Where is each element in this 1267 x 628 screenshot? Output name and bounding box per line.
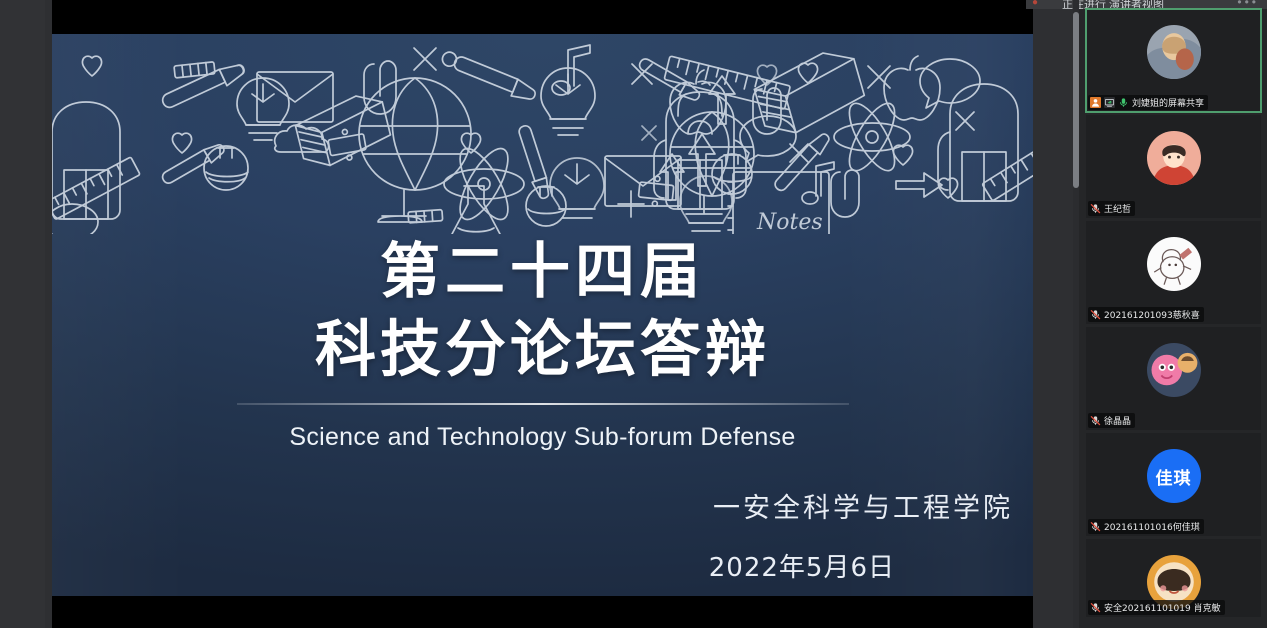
participant-tile[interactable]: 202161201093慈秋喜: [1086, 221, 1261, 324]
participant-namebar: 刘婕姐的屏幕共享: [1088, 95, 1208, 110]
participant-name: 徐晶晶: [1104, 414, 1131, 427]
mic-muted-icon: [1090, 203, 1101, 214]
slide-title-line1: 第二十四届: [52, 234, 1033, 311]
mic-muted-icon: [1090, 521, 1101, 532]
slide-date: 2022年5月6日: [709, 547, 895, 584]
record-icon: ●: [1032, 0, 1038, 8]
title-divider: [237, 403, 849, 405]
participant-tile[interactable]: 徐晶晶: [1086, 327, 1261, 430]
avatar: [1147, 131, 1201, 185]
participant-namebar: 202161101016何佳琪: [1088, 519, 1204, 534]
avatar: [1147, 237, 1201, 291]
participant-namebar: 王纪哲: [1088, 201, 1135, 216]
participants-scrollbar[interactable]: [1073, 12, 1079, 188]
host-icon: [1090, 97, 1101, 108]
participant-namebar: 安全202161101019 肖克敏: [1088, 600, 1225, 615]
participant-name: 刘婕姐的屏幕共享: [1132, 96, 1204, 109]
participant-name: 202161101016何佳琪: [1104, 520, 1200, 533]
svg-text:Notes: Notes: [756, 210, 823, 234]
participant-name: 202161201093慈秋喜: [1104, 308, 1200, 321]
screen-share-icon: [1104, 97, 1115, 108]
presentation-slide[interactable]: Notes: [52, 34, 1033, 596]
participant-name: 安全202161101019 肖克敏: [1104, 601, 1221, 614]
meeting-window: Notes: [0, 0, 1267, 628]
participant-tile[interactable]: 刘婕姐的屏幕共享: [1086, 9, 1261, 112]
avatar: [1147, 343, 1201, 397]
participant-name: 王纪哲: [1104, 202, 1131, 215]
panel-overflow-icon[interactable]: •••: [1237, 0, 1259, 9]
participant-tile-list: 刘婕姐的屏幕共享 王纪哲 202161201093慈秋喜: [1086, 9, 1261, 620]
slide-subtitle-en: Science and Technology Sub-forum Defense: [52, 423, 1033, 452]
panel-header-bar[interactable]: ● 正在进行 演讲者视图 •••: [1026, 0, 1267, 9]
participant-tile[interactable]: 佳琪 202161101016何佳琪: [1086, 433, 1261, 536]
avatar-initials: 佳琪: [1156, 464, 1192, 489]
participant-tile[interactable]: 安全202161101019 肖克敏: [1086, 539, 1261, 617]
slide-organization: 一安全科学与工程学院: [709, 486, 1013, 525]
slide-title-line2: 科技分论坛答辩: [52, 311, 1033, 389]
participant-namebar: 202161201093慈秋喜: [1088, 307, 1204, 322]
mic-muted-icon: [1090, 415, 1101, 426]
slide-title-block: 第二十四届 科技分论坛答辩 Science and Technology Sub…: [52, 234, 1033, 452]
slide-footer-block: 一安全科学与工程学院 2022年5月6日: [709, 486, 1019, 584]
mic-muted-icon: [1090, 602, 1101, 613]
shared-screen-stage[interactable]: Notes: [45, 0, 1078, 628]
participant-tile[interactable]: 王纪哲: [1086, 115, 1261, 218]
avatar: [1147, 25, 1201, 79]
left-toolbar-rail: [0, 0, 45, 628]
mic-muted-icon: [1090, 309, 1101, 320]
participant-namebar: 徐晶晶: [1088, 413, 1135, 428]
mic-on-icon: [1118, 97, 1129, 108]
avatar: 佳琪: [1147, 449, 1201, 503]
doodle-illustration-band: Notes: [52, 34, 1033, 234]
